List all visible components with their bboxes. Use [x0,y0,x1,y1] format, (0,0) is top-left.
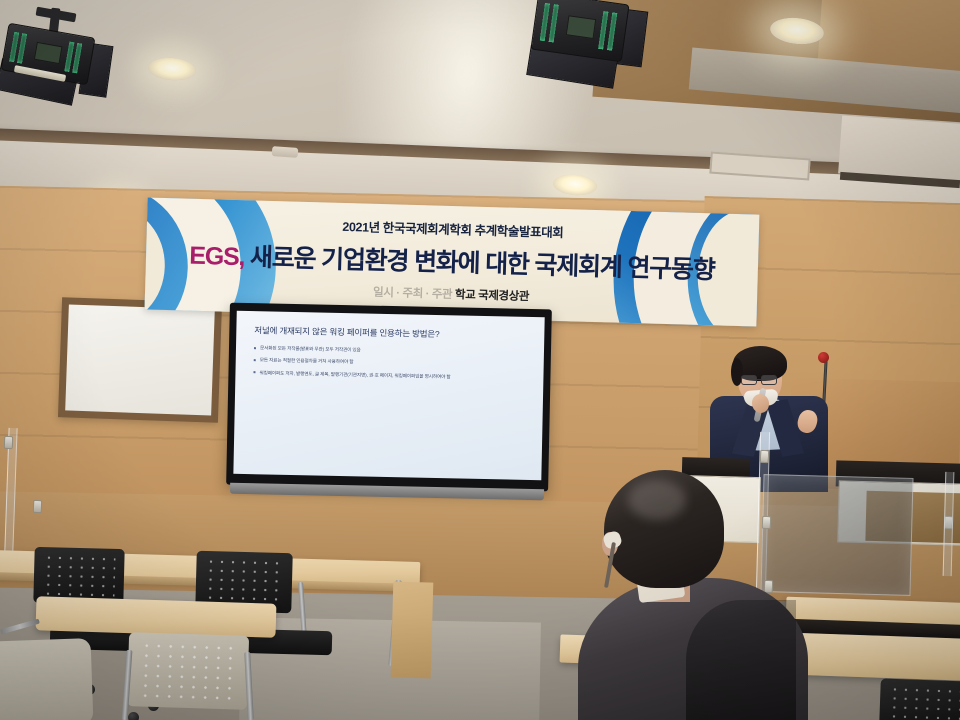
attendee-jacket-shadow [686,600,796,720]
slide-title: 저널에 개재되지 않은 워킹 페이퍼를 인용하는 방법은? [254,324,526,342]
slide-bullet: 워킹페이퍼도 저자, 발행연도, 글 제목, 발행기관(기관지명), 권·호 페… [253,369,525,382]
led-tube-icon [549,4,559,42]
shield-clip-icon [33,500,42,513]
banner-title-rest: 새로운 기업환경 변화에 대한 국제회계 연구동향 [244,243,715,284]
desk-front-right [797,633,960,681]
air-vent-icon [272,146,299,158]
slide-surface: 저널에 개재되지 않은 워킹 페이퍼를 인용하는 방법은? 문서화된 모든 저작… [233,311,544,480]
glasses-bridge-icon [757,379,761,380]
slide-bullet: 모든 자료는 적절한 인용절차를 거쳐 사용하여야 함 [254,357,526,370]
whiteboard-surface [65,304,215,415]
banner-title-highlight: EGS, [189,242,245,272]
whiteboard [58,297,222,423]
lecture-hall-photo: 2021년 한국국제회계학회 추계학술발표대회 EGS, 새로운 기업환경 변화… [0,0,960,720]
stage-light-left [0,8,130,118]
attendee-hair-highlight [628,480,686,520]
display-bezel: 저널에 개재되지 않은 워킹 페이퍼를 인용하는 방법은? 문서화된 모든 저작… [226,303,552,492]
shield-clip-icon [4,436,13,449]
chair-backrest[interactable] [879,678,960,720]
led-tube-icon [72,43,82,73]
shield-clip-icon [760,450,769,463]
slide-bullet: 문서화된 모든 저작물(발표와 무관) 모두 저작권이 있음 [254,344,526,357]
slide-bullet-list: 문서화된 모든 저작물(발표와 무관) 모두 저작권이 있음 모든 자료는 적절… [253,344,526,381]
light-display-panel [34,42,63,64]
glasses-icon [741,375,757,385]
chair-perforation-icon [139,641,237,702]
chair-perforation-icon [888,685,960,720]
banner-venue-occluded: 일시 · 주최 · 주관 [373,287,452,301]
chair-backrest-grey[interactable] [127,632,249,710]
glasses-icon [761,375,777,385]
chair-caster-icon [128,712,139,720]
presentation-display[interactable]: 저널에 개재되지 않은 워킹 페이퍼를 인용하는 방법은? 문서화된 모든 저작… [226,303,552,492]
led-tube-icon [17,33,27,63]
banner-venue-visible: 학교 국제경상관 [455,289,529,303]
seated-attendee [566,470,816,720]
stage-light-right [520,0,660,102]
chair-perforation-icon [204,557,283,607]
led-tube-icon [607,12,617,50]
table-side-panel [391,581,434,678]
chair-perforation-icon [42,553,115,599]
chair-backrest-grey[interactable] [0,638,93,720]
light-display-panel [566,15,597,39]
